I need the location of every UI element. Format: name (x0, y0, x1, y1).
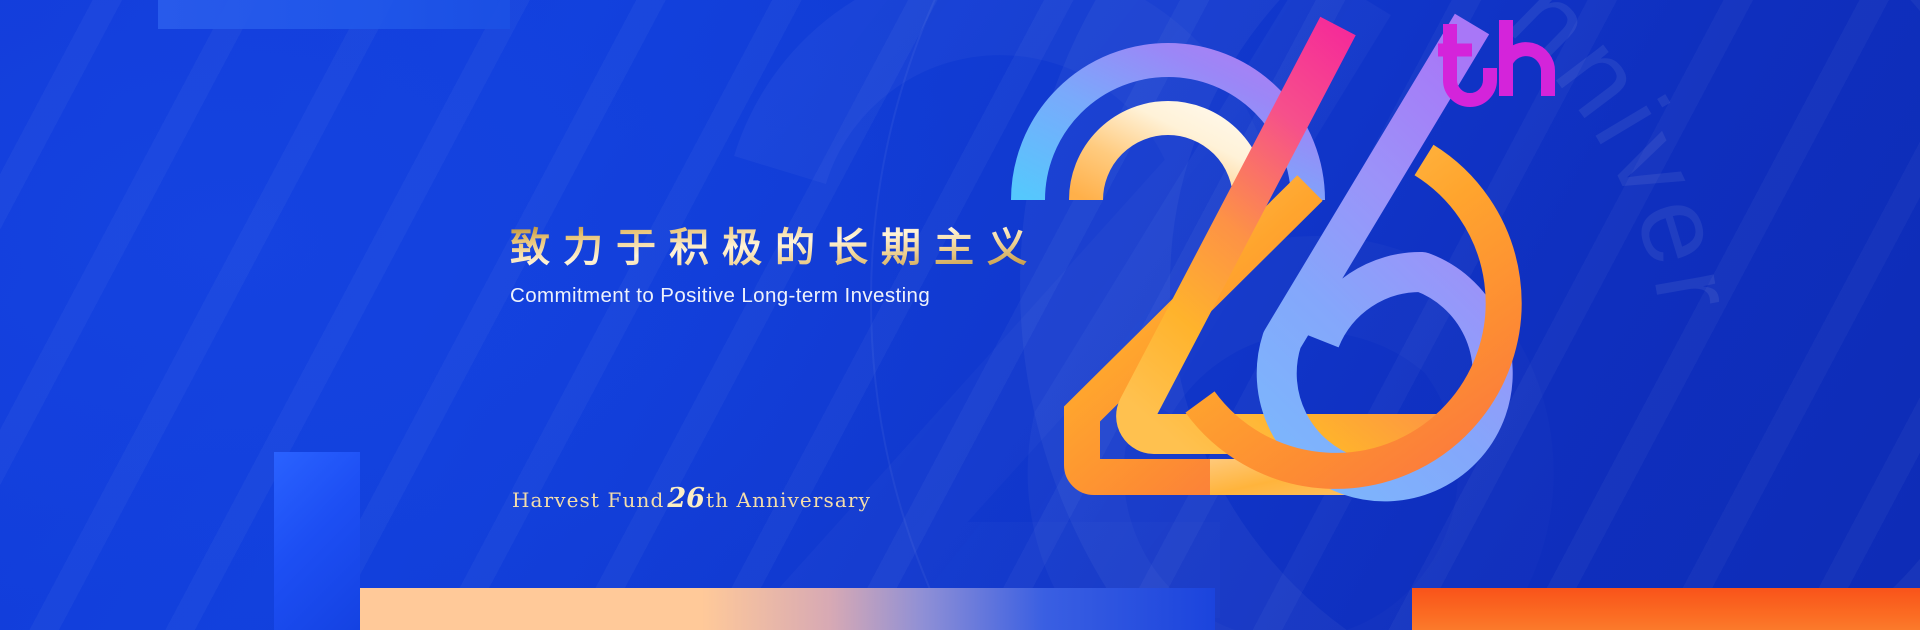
headline-block: 致力于积极的长期主义 Commitment to Positive Long-t… (510, 225, 1070, 308)
bottom-orange-bar (1412, 588, 1920, 630)
logo-arc-cream (1086, 118, 1250, 200)
tagline-prefix: Harvest Fund (512, 488, 664, 512)
diagonal-stripes (0, 0, 1920, 630)
headline-chinese: 致力于积极的长期主义 (510, 225, 1070, 271)
background-decoration: nniver (0, 0, 1920, 630)
brand-tagline: Harvest Fund 26 th Anniversary (512, 483, 871, 514)
tagline-number: 26 (667, 483, 705, 514)
left-accent-column (274, 452, 360, 630)
top-left-accent-bar (158, 0, 510, 29)
logo-superscript-th (1438, 20, 1548, 100)
anniversary-banner: nniver 致力于积极的长期主义 Commitment to Positive… (0, 0, 1920, 630)
tagline-suffix: th Anniversary (706, 488, 871, 512)
bottom-gradient-bar (360, 588, 1215, 630)
anniversary-26-logo (1020, 10, 1530, 530)
headline-english: Commitment to Positive Long-term Investi… (510, 284, 1070, 308)
